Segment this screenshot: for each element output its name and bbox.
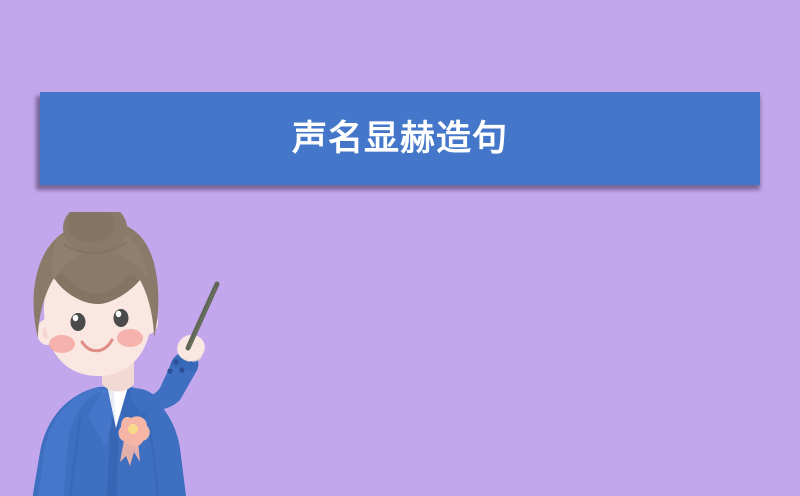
left-eye (71, 313, 86, 331)
teacher-illustration (20, 212, 250, 496)
page-root: 声名显赫造句 (0, 0, 800, 496)
right-eye (114, 309, 129, 327)
left-cheek (49, 335, 75, 353)
page-title: 声名显赫造句 (292, 121, 508, 156)
title-banner: 声名显赫造句 (40, 92, 760, 185)
pointer-stick (188, 284, 217, 348)
right-cheek (117, 329, 143, 347)
